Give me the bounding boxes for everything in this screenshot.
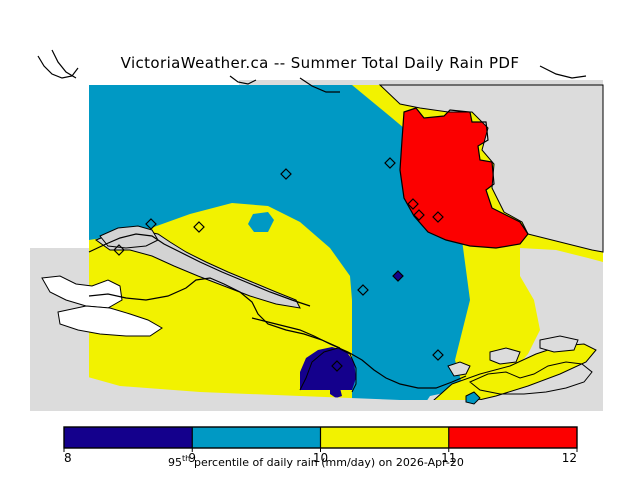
colorbar-caption-main: percentile of daily rain (mm/day) on 202… <box>194 456 464 469</box>
colorbar-tick-label-8: 8 <box>64 451 72 465</box>
colorbar-tick-label-12: 12 <box>562 451 577 465</box>
page-title: VictoriaWeather.ca -- Summer Total Daily… <box>0 54 640 72</box>
colorbar-band-group <box>64 427 577 448</box>
colorbar-caption-superscript: th <box>182 454 190 463</box>
colorbar-band-8-9 <box>64 427 192 448</box>
colorbar: 89101112 95 th percentile of daily rain … <box>0 0 640 480</box>
colorbar-band-10-11 <box>321 427 449 448</box>
colorbar-band-9-10 <box>192 427 320 448</box>
colorbar-caption-prefix: 95 <box>168 456 182 469</box>
colorbar-band-11-12 <box>449 427 577 448</box>
weather-map-figure: VictoriaWeather.ca -- Summer Total Daily… <box>0 0 640 480</box>
